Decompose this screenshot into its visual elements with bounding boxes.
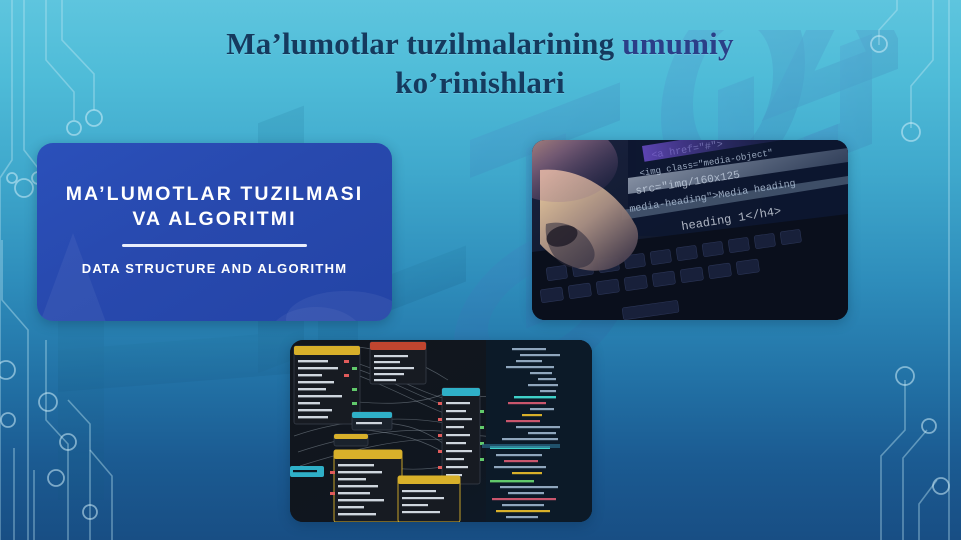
node-graph-editor-image: [290, 340, 592, 522]
title-line2: ko’rinishlari: [395, 65, 565, 100]
title-line1-primary: Ma’lumotlar tuzilmalarining: [226, 26, 622, 61]
title-line1-accent: umumiy: [622, 26, 733, 61]
node-graph-editor-screenshot: [290, 340, 592, 522]
keyboard-code-photo-image: <a href="#"> <img class="media-object" s…: [532, 140, 848, 320]
cover-card-subheading: DATA STRUCTURE AND ALGORITHM: [82, 260, 348, 278]
slide-title: Ma’lumotlar tuzilmalarining umumiy ko’ri…: [90, 24, 870, 102]
cover-card-heading: MA’LUMOTLAR TUZILMASI VA ALGORITMI: [55, 182, 374, 233]
cover-card-divider: [122, 244, 307, 247]
presentation-slide: Ma’lumotlar tuzilmalarining umumiy ko’ri…: [0, 0, 961, 540]
cover-card: MA’LUMOTLAR TUZILMASI VA ALGORITMI DATA …: [37, 143, 392, 321]
keyboard-code-photo: <a href="#"> <img class="media-object" s…: [532, 140, 848, 320]
